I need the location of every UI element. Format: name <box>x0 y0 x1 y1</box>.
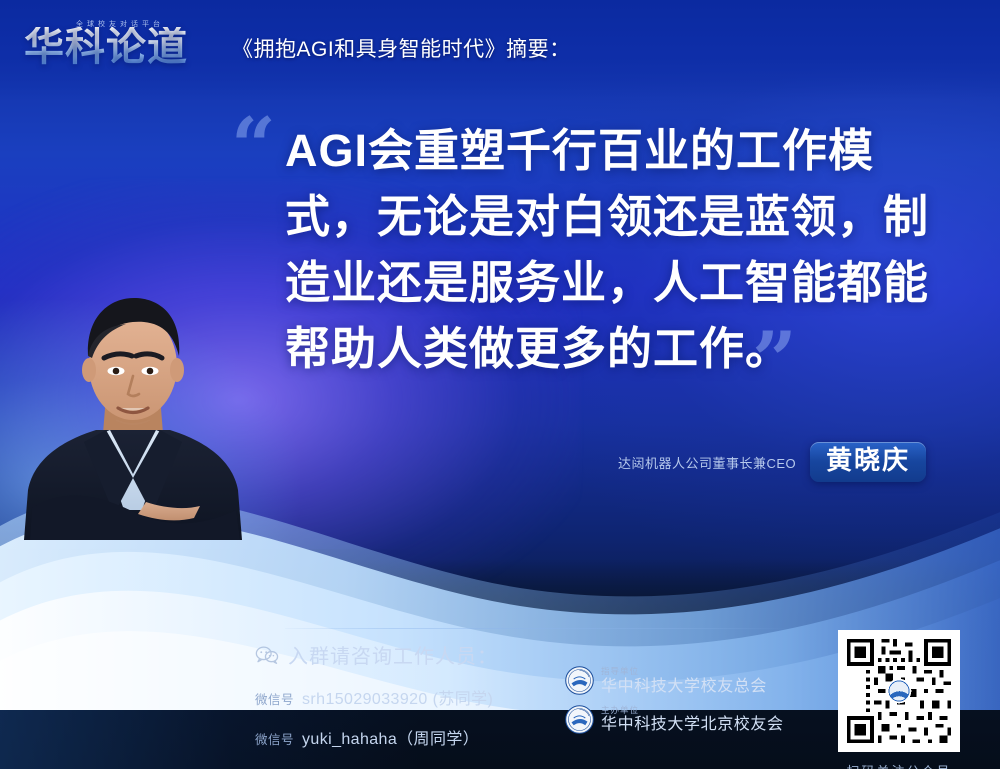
university-seal-icon <box>565 705 594 734</box>
qr-block: 扫码关注公众号 <box>833 630 965 769</box>
organizer-kicker: 指导单位 <box>601 666 767 677</box>
speaker-portrait <box>18 278 248 540</box>
quote-mark-open-icon: “ <box>231 108 276 186</box>
qr-caption: 扫码关注公众号 <box>833 761 965 769</box>
quote-line: 造业还是服务业，人工智能都能 <box>285 250 945 316</box>
speaker-name-badge: 黄晓庆 <box>810 442 926 482</box>
quote-line: 式，无论是对白领还是蓝领，制 <box>285 184 945 250</box>
wechat-icon <box>255 646 279 664</box>
brand-logo[interactable]: 全球校友对话平台 华科论道 <box>24 17 216 79</box>
quote-line: 帮助人类做更多的工作。 <box>285 316 945 382</box>
contact-value[interactable]: yuki_hahaha（周同学） <box>302 725 479 749</box>
footer-heading: 入群请咨询工作人员： <box>255 640 815 669</box>
organizer-name: 华中科技大学校友总会 <box>601 677 767 696</box>
organizer-kicker: 主办单位 <box>601 705 784 716</box>
contact-value[interactable]: srh15029033920 (苏同学) <box>302 685 493 709</box>
organizer-row: 主办单位 华中科技大学北京校友会 <box>565 705 784 735</box>
contact-label: 微信号 <box>255 689 294 708</box>
qr-code-icon[interactable] <box>838 630 960 752</box>
poster-header: 全球校友对话平台 华科论道 《拥抱AGI和具身智能时代》摘要： <box>0 0 1000 96</box>
university-seal-icon <box>565 666 594 695</box>
quote-mark-close-icon: ” <box>752 322 797 400</box>
attribution: 达闼机器人公司董事长兼CEO 黄晓庆 <box>618 446 926 478</box>
organizer-row: 指导单位 华中科技大学校友总会 <box>565 666 784 696</box>
page-title: 《拥抱AGI和具身智能时代》摘要： <box>232 33 571 63</box>
footer-divider <box>285 628 785 629</box>
poster-root: 全球校友对话平台 华科论道 《拥抱AGI和具身智能时代》摘要： <box>0 0 1000 769</box>
organizer-name: 华中科技大学北京校友会 <box>601 715 784 734</box>
logo-wordmark: 华科论道 <box>24 27 216 67</box>
organizer-block: 指导单位 华中科技大学校友总会 主办单位 华中科技大学北京校友会 <box>565 666 784 744</box>
speaker-role: 达闼机器人公司董事长兼CEO <box>618 453 796 472</box>
contact-label: 微信号 <box>255 729 294 748</box>
quote-text: AGI会重塑千行百业的工作模 式，无论是对白领还是蓝领，制 造业还是服务业，人工… <box>285 118 945 382</box>
footer-title: 入群请咨询工作人员： <box>288 640 498 669</box>
quote-line: AGI会重塑千行百业的工作模 <box>285 118 945 184</box>
